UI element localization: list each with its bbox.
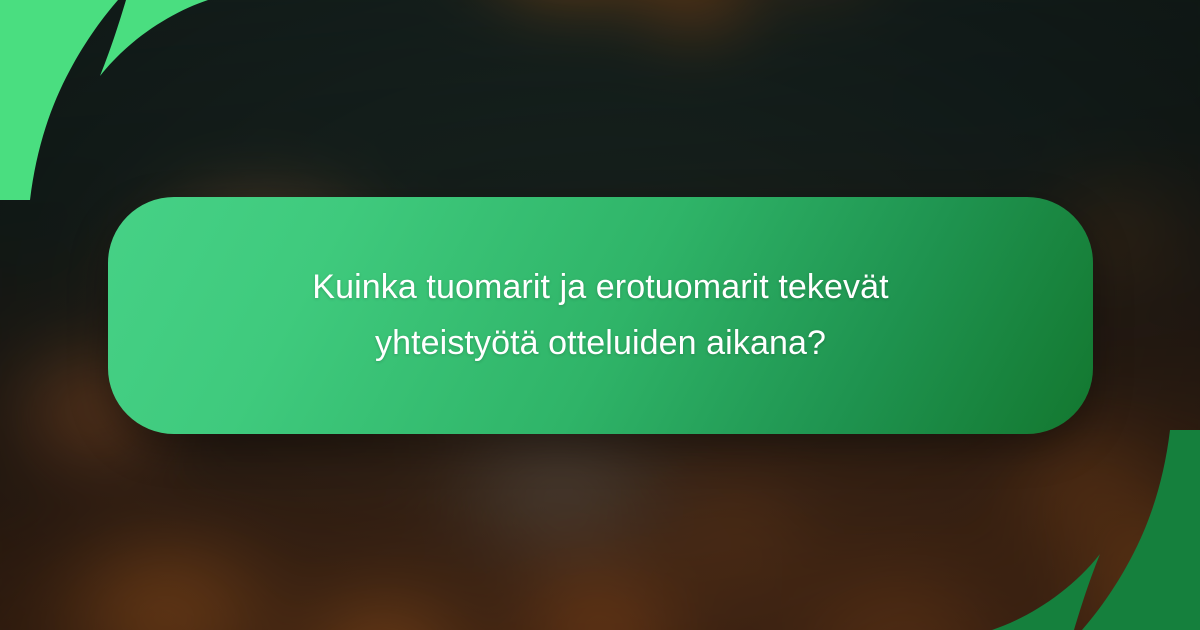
question-text: Kuinka tuomarit ja erotuomarit tekevät y… xyxy=(251,260,951,370)
og-image-canvas: Kuinka tuomarit ja erotuomarit tekevät y… xyxy=(0,0,1200,630)
question-card: Kuinka tuomarit ja erotuomarit tekevät y… xyxy=(108,197,1093,434)
